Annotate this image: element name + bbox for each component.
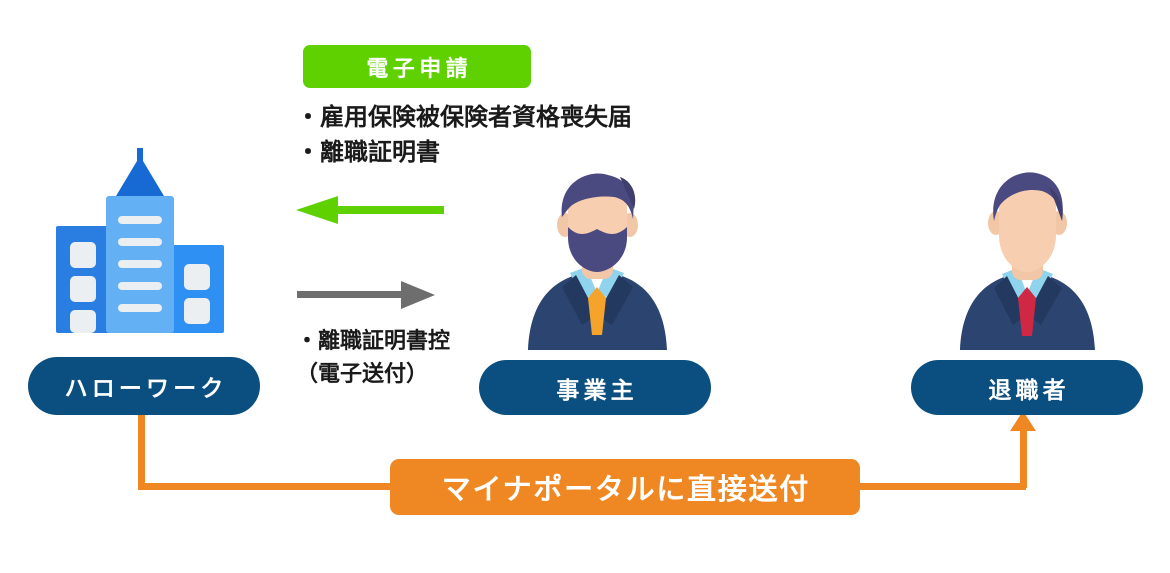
mynaportal-banner: マイナポータルに直接送付	[390, 459, 860, 515]
orange-connector-right-horizontal	[840, 483, 1026, 490]
node-retiree[interactable]: 退職者	[911, 360, 1143, 415]
orange-connector-left-vertical	[138, 413, 145, 486]
list-item: ・雇用保険被保険者資格喪失届	[296, 100, 632, 135]
arrow-left-icon	[296, 195, 444, 230]
list-item: （電子送付）	[296, 358, 450, 391]
arrow-right-icon	[297, 280, 435, 315]
list-item: ・離職証明書控	[296, 325, 450, 358]
list-item: ・離職証明書	[296, 135, 632, 170]
office-building-icon	[48, 148, 232, 343]
diagram-canvas: 電子申請 ・雇用保険被保険者資格喪失届 ・離職証明書 ・離職証明書控 （電子送付…	[0, 0, 1170, 573]
copy-document-list: ・離職証明書控 （電子送付）	[296, 325, 450, 390]
efiling-badge: 電子申請	[303, 45, 531, 88]
orange-connector-right-vertical	[1020, 428, 1027, 488]
node-employer[interactable]: 事業主	[479, 360, 711, 415]
efiling-document-list: ・雇用保険被保険者資格喪失届 ・離職証明書	[296, 100, 632, 170]
businessman-avatar-icon	[520, 165, 675, 355]
node-hellowork[interactable]: ハローワーク	[28, 357, 260, 415]
person-avatar-icon	[950, 165, 1105, 355]
orange-connector-left-horizontal	[138, 483, 410, 490]
